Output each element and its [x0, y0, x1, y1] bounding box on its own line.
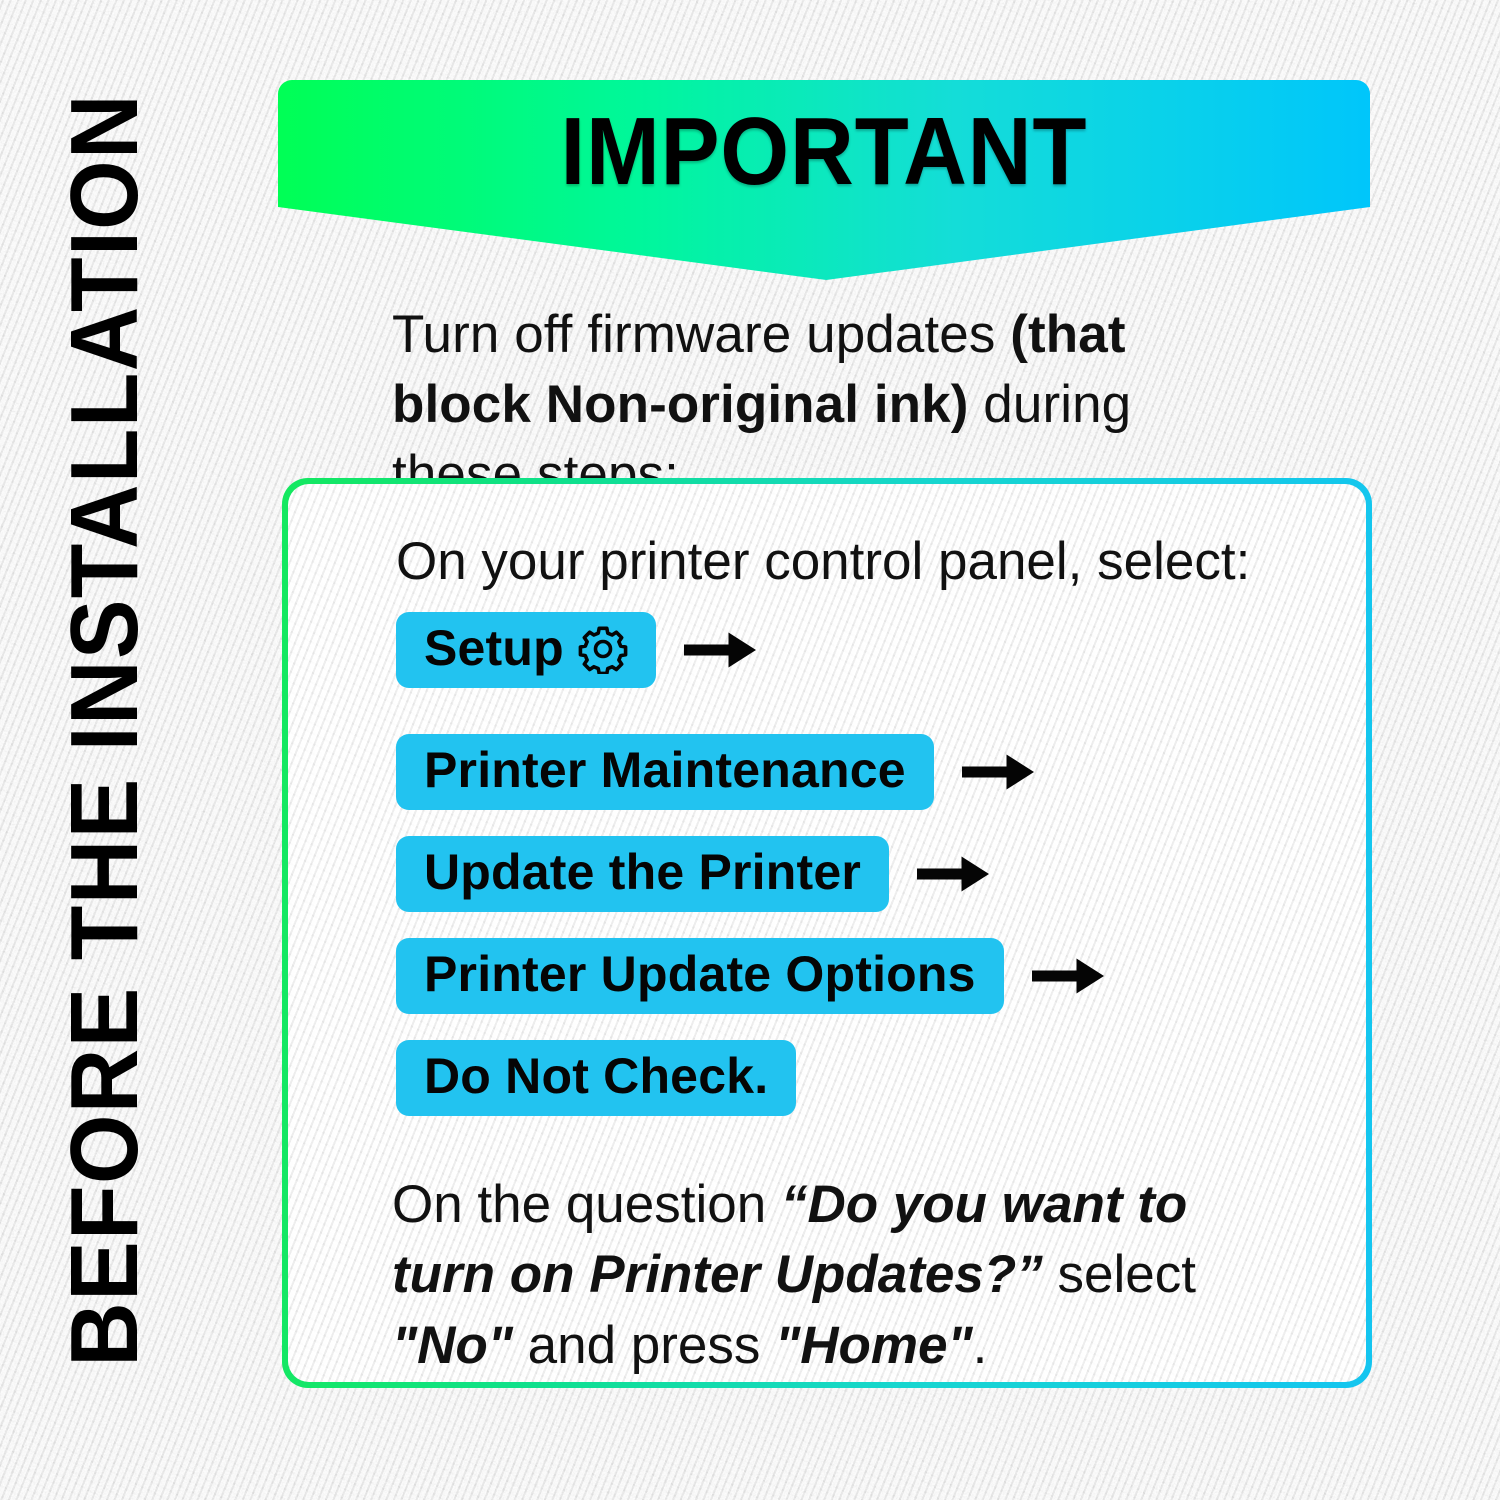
vertical-page-title-text: BEFORE THE INSTALLATION [57, 139, 153, 1367]
arrow-right-icon [682, 627, 758, 673]
instruction-box-content: On your printer control panel, select: S… [288, 484, 1366, 1382]
closing-part2: select [1043, 1245, 1196, 1304]
important-banner-title: IMPORTANT [322, 104, 1327, 200]
closing-part1: On the question [392, 1175, 781, 1234]
arrow-right-icon [960, 749, 1036, 795]
step-chip-do-not-check-label: Do Not Check. [424, 1049, 768, 1103]
step-chip-do-not-check[interactable]: Do Not Check. [396, 1040, 796, 1116]
closing-quote-home: "Home" [775, 1316, 973, 1375]
step-row-do-not-check: Do Not Check. [396, 1040, 796, 1116]
step-chip-update-the-printer[interactable]: Update the Printer [396, 836, 889, 912]
closing-part4: . [973, 1316, 988, 1375]
instruction-box-inner: On your printer control panel, select: S… [288, 484, 1366, 1382]
step-chip-setup[interactable]: Setup [396, 612, 656, 688]
instruction-box: On your printer control panel, select: S… [282, 478, 1372, 1388]
step-chip-printer-maintenance-label: Printer Maintenance [424, 743, 906, 797]
step-row-printer-update-options: Printer Update Options [396, 938, 1106, 1014]
important-banner: IMPORTANT [278, 80, 1370, 280]
intro-text-part1: Turn off firmware updates [392, 305, 1010, 364]
closing-part3: and press [513, 1316, 775, 1375]
gear-icon [578, 624, 628, 674]
step-chip-setup-label: Setup [424, 621, 564, 675]
step-chip-printer-update-options[interactable]: Printer Update Options [396, 938, 1004, 1014]
instruction-box-heading: On your printer control panel, select: [396, 531, 1250, 592]
step-chip-update-the-printer-label: Update the Printer [424, 845, 861, 899]
step-row-setup: Setup [396, 612, 758, 688]
step-row-update-the-printer: Update the Printer [396, 836, 991, 912]
arrow-right-icon [1030, 953, 1106, 999]
poster-canvas: BEFORE THE INSTALLATION IMPORTANT Turn o… [0, 0, 1500, 1500]
closing-paragraph: On the question “Do you want to turn on … [392, 1170, 1282, 1381]
step-chip-printer-update-options-label: Printer Update Options [424, 947, 976, 1001]
step-chip-printer-maintenance[interactable]: Printer Maintenance [396, 734, 934, 810]
closing-quote-no: "No" [392, 1316, 513, 1375]
arrow-right-icon [915, 851, 991, 897]
step-row-printer-maintenance: Printer Maintenance [396, 734, 1036, 810]
